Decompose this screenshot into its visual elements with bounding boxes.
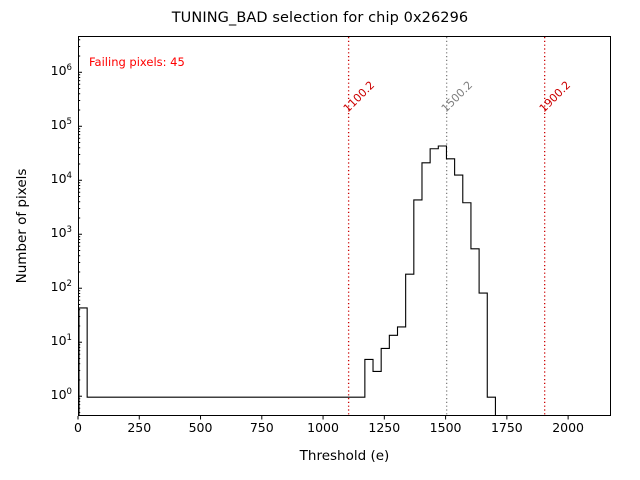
y-tick-label-1e2: 102 — [2, 279, 72, 294]
x-tick-label-1000: 1000 — [307, 420, 339, 435]
x-tick-label-0: 0 — [74, 420, 82, 435]
chart-title: TUNING_BAD selection for chip 0x26296 — [0, 10, 640, 26]
x-tick-label-250: 250 — [127, 420, 151, 435]
threshold-vlines — [349, 37, 545, 415]
y-tick-mantissa: 10 — [51, 387, 67, 402]
x-tick-label-500: 500 — [189, 420, 213, 435]
plot-area: Failing pixels: 45 — [78, 36, 611, 416]
x-tick-label-1750: 1750 — [491, 420, 523, 435]
y-tick-label-1e5: 105 — [2, 117, 72, 132]
x-tick-label-1250: 1250 — [368, 420, 400, 435]
y-tick-mantissa: 10 — [51, 279, 67, 294]
y-tick-exponent: 6 — [67, 63, 72, 73]
y-tick-exponent: 5 — [67, 117, 72, 127]
y-tick-mantissa: 10 — [51, 63, 67, 78]
histogram-plot-svg — [79, 37, 610, 415]
x-tick-label-750: 750 — [250, 420, 274, 435]
y-tick-label-1e3: 103 — [2, 225, 72, 240]
x-tick-label-1500: 1500 — [430, 420, 462, 435]
y-tick-label-1e4: 104 — [2, 171, 72, 186]
y-tick-mantissa: 10 — [51, 333, 67, 348]
y-tick-label-1e0: 100 — [2, 387, 72, 402]
y-tick-exponent: 4 — [67, 171, 72, 181]
y-tick-mantissa: 10 — [51, 225, 67, 240]
y-tick-exponent: 2 — [67, 279, 72, 289]
y-tick-mantissa: 10 — [51, 117, 67, 132]
y-tick-label-group: 100101102103104105106 — [0, 0, 72, 480]
histogram-figure: TUNING_BAD selection for chip 0x26296 10… — [0, 0, 640, 480]
y-tick-label-1e1: 101 — [2, 333, 72, 348]
y-tick-label-1e6: 106 — [2, 63, 72, 78]
x-axis-label: Threshold (e) — [78, 448, 611, 464]
y-tick-exponent: 0 — [67, 387, 72, 397]
y-tick-exponent: 3 — [67, 225, 72, 235]
histogram-step-outline — [79, 146, 495, 415]
y-axis-label: Number of pixels — [14, 36, 30, 416]
x-tick-label-2000: 2000 — [552, 420, 584, 435]
y-tick-mantissa: 10 — [51, 171, 67, 186]
y-tick-exponent: 1 — [67, 333, 72, 343]
failing-pixels-annotation: Failing pixels: 45 — [89, 55, 185, 69]
